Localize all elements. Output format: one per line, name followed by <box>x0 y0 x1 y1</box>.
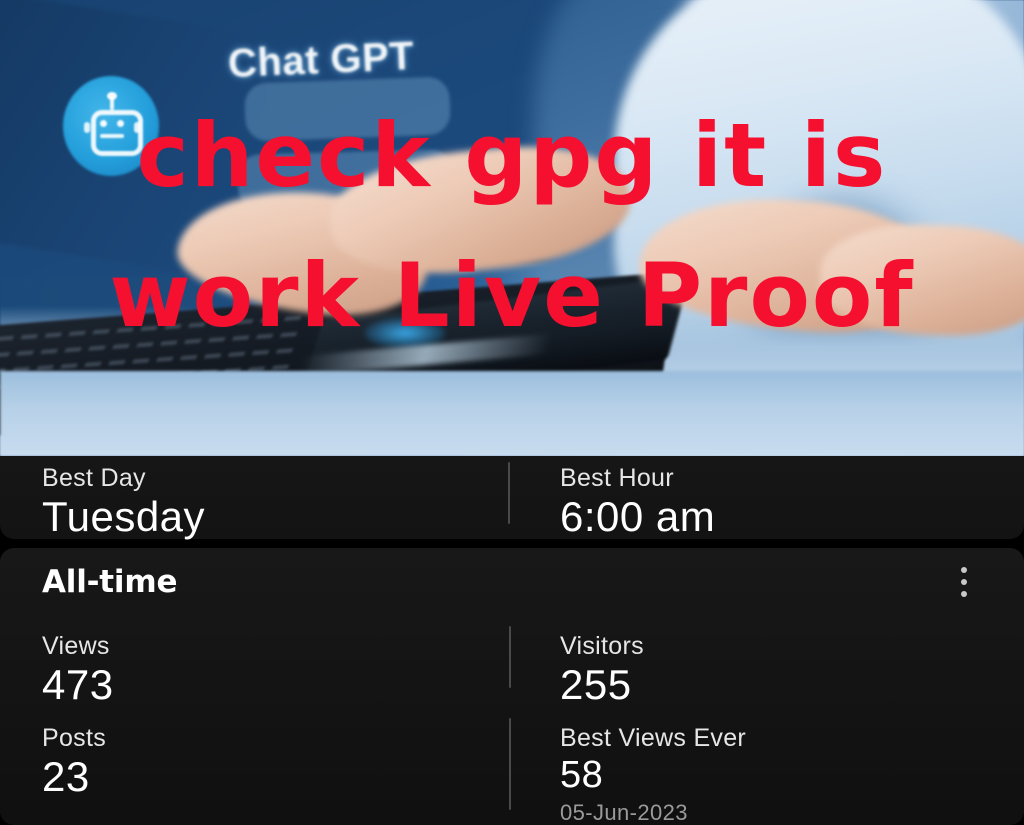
stat-value-best-day: Tuesday <box>42 494 205 540</box>
robot-ear-right-icon <box>134 122 140 133</box>
app-screen: Chat GPT check gpg it is work Live Proof <box>0 0 1024 825</box>
kebab-menu-icon[interactable] <box>952 565 976 599</box>
divider-best-row <box>508 462 510 524</box>
divider-posts-row <box>509 718 511 810</box>
all-time-title: All-time <box>42 564 177 600</box>
stats-panel: Best Day Tuesday Best Hour 6:00 am All-t… <box>0 456 1024 825</box>
stat-label-best-day: Best Day <box>42 464 205 492</box>
stat-label-best-hour: Best Hour <box>560 464 715 492</box>
hero-photo: Chat GPT <box>0 0 1024 456</box>
all-time-card: All-time Views 473 Visitors 255 Posts 23 <box>0 548 1024 825</box>
stat-label-visitors: Visitors <box>560 632 644 660</box>
chatbot-face-icon <box>86 96 138 152</box>
stat-views[interactable]: Views 473 <box>42 632 114 708</box>
stat-best-views-ever[interactable]: Best Views Ever 58 05-Jun-2023 <box>560 724 746 825</box>
stat-label-posts: Posts <box>42 724 106 752</box>
screen-caption-text: Chat GPT <box>227 34 415 87</box>
all-time-header: All-time <box>0 548 1024 622</box>
stat-value-views: 473 <box>42 662 114 708</box>
divider-views-row <box>509 626 511 688</box>
robot-antenna-dot-icon <box>107 92 117 100</box>
stat-label-views: Views <box>42 632 114 660</box>
robot-eye-left-icon <box>100 120 107 127</box>
best-day-hour-card: Best Day Tuesday Best Hour 6:00 am <box>0 456 1024 539</box>
stat-value-best-views-ever: 58 <box>560 754 746 796</box>
robot-eye-right-icon <box>117 120 124 127</box>
chat-bubble <box>244 76 451 141</box>
robot-head-icon <box>91 110 143 156</box>
stat-value-best-hour: 6:00 am <box>560 494 715 540</box>
stat-date-best-views-ever: 05-Jun-2023 <box>560 800 746 825</box>
robot-ear-left-icon <box>84 122 90 133</box>
stat-best-day[interactable]: Best Day Tuesday <box>42 464 205 540</box>
stat-visitors[interactable]: Visitors 255 <box>560 632 644 708</box>
stat-posts[interactable]: Posts 23 <box>42 724 106 800</box>
robot-mouth-icon <box>100 134 124 138</box>
stat-label-best-views-ever: Best Views Ever <box>560 724 746 752</box>
stat-best-hour[interactable]: Best Hour 6:00 am <box>560 464 715 540</box>
photo-layers: Chat GPT <box>0 0 1024 456</box>
stat-value-visitors: 255 <box>560 662 644 708</box>
stat-value-posts: 23 <box>42 754 106 800</box>
desk-foreground <box>0 371 1024 456</box>
